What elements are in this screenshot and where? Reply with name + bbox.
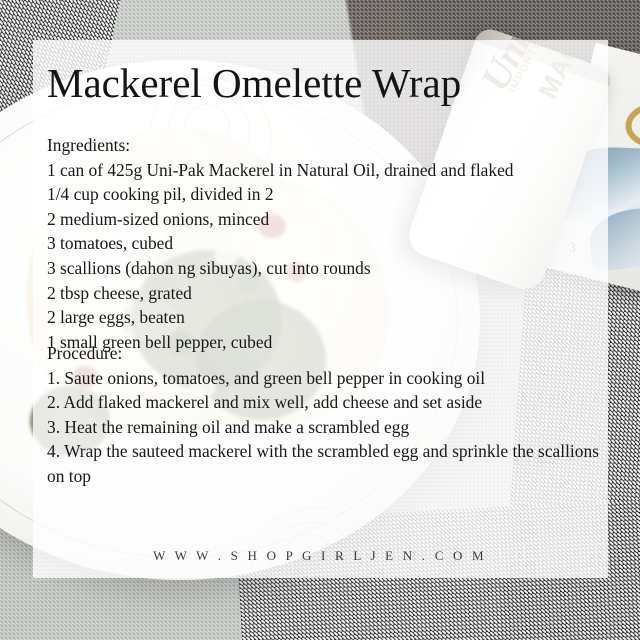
ingredients-heading: Ingredients: bbox=[47, 133, 603, 158]
recipe-card-image: 3 Uni-Pak IMPORTED MACKEREL Mackerel Ome… bbox=[0, 0, 640, 640]
pull-ring-graphic bbox=[625, 101, 640, 149]
ingredient-item: 1 can of 425g Uni-Pak Mackerel in Natura… bbox=[47, 158, 603, 183]
ingredient-item: 2 tbsp cheese, grated bbox=[47, 281, 603, 306]
ingredient-item: 2 medium-sized onions, minced bbox=[47, 207, 603, 232]
ingredient-item: 2 large eggs, beaten bbox=[47, 305, 603, 330]
ingredient-item: 3 scallions (dahon ng sibuyas), cut into… bbox=[47, 256, 603, 281]
procedure-step: 4. Wrap the sauteed mackerel with the sc… bbox=[47, 439, 603, 488]
ingredient-item: 1/4 cup cooking pil, divided in 2 bbox=[47, 182, 603, 207]
ingredients-section: Ingredients: 1 can of 425g Uni-Pak Macke… bbox=[47, 133, 603, 354]
page-title: Mackerel Omelette Wrap bbox=[47, 62, 461, 105]
procedure-step: 3. Heat the remaining oil and make a scr… bbox=[47, 415, 603, 440]
website-watermark: W W W . S H O P G I R L J E N . C O M bbox=[0, 548, 640, 564]
procedure-heading: Procedure: bbox=[47, 341, 603, 366]
procedure-step: 1. Saute onions, tomatoes, and green bel… bbox=[47, 366, 603, 391]
procedure-section: Procedure: 1. Saute onions, tomatoes, an… bbox=[47, 341, 603, 489]
procedure-step: 2. Add flaked mackerel and mix well, add… bbox=[47, 390, 603, 415]
ingredient-item: 3 tomatoes, cubed bbox=[47, 231, 603, 256]
